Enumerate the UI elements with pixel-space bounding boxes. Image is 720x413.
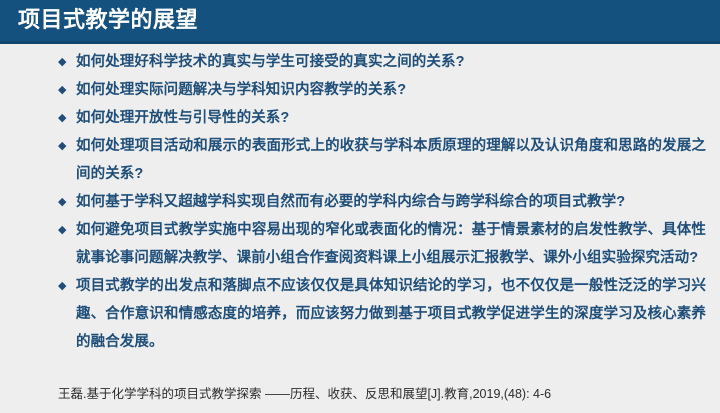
bullet-item: ◆ 如何处理开放性与引导性的关系?	[58, 104, 706, 132]
diamond-bullet-icon: ◆	[58, 104, 67, 132]
bullet-text: 如何处理开放性与引导性的关系?	[76, 110, 289, 126]
slide-title: 项目式教学的展望	[0, 9, 198, 31]
bullet-text: 如何处理实际问题解决与学科知识内容教学的关系?	[76, 82, 406, 98]
bullet-item: ◆ 如何基于学科又超越学科实现自然而有必要的学科内综合与跨学科综合的项目式教学?	[58, 188, 706, 216]
slide-title-banner: 项目式教学的展望	[0, 0, 720, 44]
slide-body: ◆ 如何处理好科学技术的真实与学生可接受的真实之间的关系? ◆ 如何处理实际问题…	[0, 44, 720, 413]
bullet-text: 如何避免项目式教学实施中容易出现的窄化或表面化的情况：基于情景素材的启发性教学、…	[76, 222, 706, 266]
source-citation: 王磊.基于化学学科的项目式教学探索 ——历程、收获、反思和展望[J].教育,20…	[58, 385, 551, 403]
bullet-text: 项目式教学的出发点和落脚点不应该仅仅是具体知识结论的学习，也不仅仅是一般性泛泛的…	[76, 278, 706, 350]
bullet-text: 如何处理项目活动和展示的表面形式上的收获与学科本质原理的理解以及认识角度和思路的…	[76, 138, 706, 182]
diamond-bullet-icon: ◆	[58, 188, 67, 216]
diamond-bullet-icon: ◆	[58, 272, 67, 300]
bullet-text: 如何基于学科又超越学科实现自然而有必要的学科内综合与跨学科综合的项目式教学?	[76, 194, 625, 210]
bullet-list: ◆ 如何处理好科学技术的真实与学生可接受的真实之间的关系? ◆ 如何处理实际问题…	[58, 48, 706, 356]
presentation-slide: 项目式教学的展望 ◆ 如何处理好科学技术的真实与学生可接受的真实之间的关系? ◆…	[0, 0, 720, 413]
bullet-item: ◆ 项目式教学的出发点和落脚点不应该仅仅是具体知识结论的学习，也不仅仅是一般性泛…	[58, 272, 706, 356]
bullet-item: ◆ 如何处理好科学技术的真实与学生可接受的真实之间的关系?	[58, 48, 706, 76]
diamond-bullet-icon: ◆	[58, 48, 67, 76]
bullet-text: 如何处理好科学技术的真实与学生可接受的真实之间的关系?	[76, 54, 465, 70]
diamond-bullet-icon: ◆	[58, 216, 67, 244]
bullet-item: ◆ 如何处理项目活动和展示的表面形式上的收获与学科本质原理的理解以及认识角度和思…	[58, 132, 706, 188]
diamond-bullet-icon: ◆	[58, 76, 67, 104]
bullet-item: ◆ 如何处理实际问题解决与学科知识内容教学的关系?	[58, 76, 706, 104]
diamond-bullet-icon: ◆	[58, 132, 67, 160]
bullet-item: ◆ 如何避免项目式教学实施中容易出现的窄化或表面化的情况：基于情景素材的启发性教…	[58, 216, 706, 272]
